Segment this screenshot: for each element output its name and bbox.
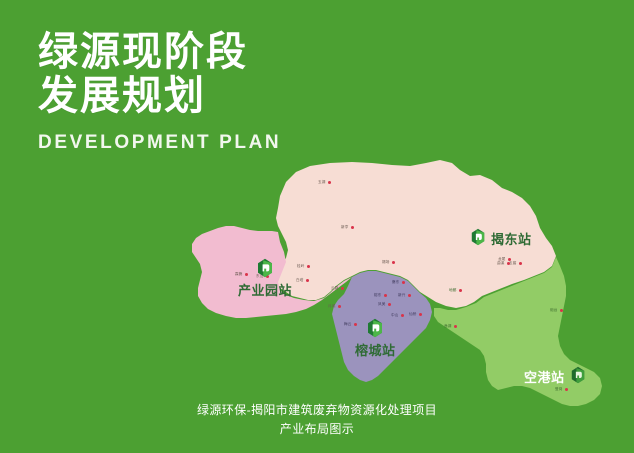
town-dot-icon xyxy=(459,289,462,292)
town-marker: 玉湖 xyxy=(318,181,331,185)
page-subtitle: DEVELOPMENT PLAN xyxy=(38,132,281,154)
station-label: 揭东站 xyxy=(491,233,532,246)
town-dot-icon xyxy=(328,181,331,184)
town-dot-icon xyxy=(384,294,387,297)
station-label: 榕城站 xyxy=(355,344,396,357)
station-chanyeyuan[interactable]: 产业园站 xyxy=(238,258,292,297)
town-marker: 凤美 xyxy=(378,303,391,307)
page-title-line-2: 发展规划 xyxy=(38,74,281,118)
town-marker: 磐东 xyxy=(392,281,405,285)
caption-line-1: 绿源环保-揭阳市建筑废弃物资源化处理项目 xyxy=(0,401,634,420)
town-marker: 新亨 xyxy=(341,226,354,230)
town-marker: 渔湖 xyxy=(444,325,457,329)
town-dot-icon xyxy=(408,294,411,297)
station-label: 产业园站 xyxy=(238,284,292,297)
town-dot-icon xyxy=(419,313,422,316)
town-marker: 曲溪 xyxy=(497,262,510,266)
town-marker: 地都 xyxy=(449,289,462,293)
lvyuan-leaf-logo-icon xyxy=(366,318,384,343)
town-dot-icon xyxy=(454,325,457,328)
caption-block: 绿源环保-揭阳市建筑废弃物资源化处理项目 产业布局图示 xyxy=(0,401,634,439)
lvyuan-leaf-logo-icon xyxy=(570,366,586,389)
town-dot-icon xyxy=(507,262,510,265)
caption-line-2: 产业布局图示 xyxy=(0,420,634,439)
town-dot-icon xyxy=(560,309,563,312)
station-jiedong[interactable]: 揭东站 xyxy=(470,228,532,251)
town-dot-icon xyxy=(402,281,405,284)
town-marker: 炮台 xyxy=(550,309,563,313)
town-dot-icon xyxy=(388,303,391,306)
lvyuan-leaf-logo-icon xyxy=(470,228,486,251)
town-dot-icon xyxy=(351,226,354,229)
station-label: 空港站 xyxy=(524,371,565,384)
town-dot-icon xyxy=(401,314,404,317)
town-marker: 云路 xyxy=(331,287,344,291)
town-marker: 桂岭 xyxy=(297,265,310,269)
town-dot-icon xyxy=(307,265,310,268)
town-marker: 锡场 xyxy=(382,261,395,265)
town-marker: 仙桥 xyxy=(409,313,422,317)
town-dot-icon xyxy=(392,261,395,264)
town-dot-icon xyxy=(341,287,344,290)
page-title-line-1: 绿源现阶段 xyxy=(38,30,281,74)
town-marker: 新兴 xyxy=(398,294,411,298)
town-marker: 榕东 xyxy=(374,294,387,298)
station-rongcheng[interactable]: 榕城站 xyxy=(355,318,396,357)
poster-root: 玉湖 新亨 锡场 桂岭 白塔 霖磐 云路 月城 龙尾 玉窖 炮台 登岗 xyxy=(0,0,634,453)
town-marker: 月城 xyxy=(328,305,341,309)
town-marker: 白塔 xyxy=(296,279,309,283)
station-konggang[interactable]: 空港站 xyxy=(524,366,586,389)
town-marker: 玉窖 xyxy=(509,262,522,266)
lvyuan-leaf-logo-icon xyxy=(256,258,274,283)
town-dot-icon xyxy=(338,305,341,308)
town-dot-icon xyxy=(519,262,522,265)
title-block: 绿源现阶段 发展规划 DEVELOPMENT PLAN xyxy=(38,30,281,154)
town-dot-icon xyxy=(306,279,309,282)
